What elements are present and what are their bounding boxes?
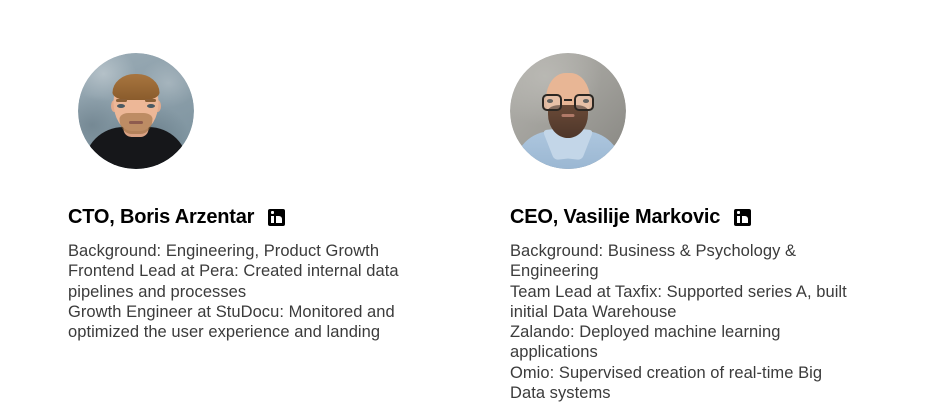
photo-eye-left xyxy=(117,104,125,108)
linkedin-icon-dot xyxy=(271,211,274,214)
linkedin-icon[interactable] xyxy=(268,209,285,226)
photo-mouth xyxy=(129,121,143,124)
bio-line: Team Lead at Taxfix: Supported series A,… xyxy=(510,282,850,323)
profile-bio: Background: Business & Psychology & Engi… xyxy=(510,241,850,403)
avatar xyxy=(78,53,194,169)
profile-card-cto: CTO, Boris Arzentar Background: Engineer… xyxy=(68,53,408,342)
linkedin-icon-dot xyxy=(737,211,740,214)
avatar-photo-boris-arzentar xyxy=(78,53,194,169)
page-title: CTO, Boris Arzentar xyxy=(68,205,254,229)
linkedin-icon-i-stem xyxy=(737,216,740,223)
bio-line: Background: Engineering, Product Growth xyxy=(68,241,404,261)
linkedin-icon[interactable] xyxy=(734,209,751,226)
page-title: CEO, Vasilije Markovic xyxy=(510,205,720,229)
bio-line: Frontend Lead at Pera: Created internal … xyxy=(68,261,404,302)
linkedin-icon-i-stem xyxy=(271,216,274,223)
photo-mouth xyxy=(562,114,575,117)
photo-eye-right xyxy=(147,104,155,108)
photo-eyeglass-left xyxy=(542,94,562,111)
bio-line: Growth Engineer at StuDocu: Monitored an… xyxy=(68,302,404,343)
photo-eyeglass-right xyxy=(574,94,594,111)
profile-bio: Background: Engineering, Product Growth … xyxy=(68,241,404,342)
team-profiles-grid: CTO, Boris Arzentar Background: Engineer… xyxy=(0,0,948,412)
bio-line: Omio: Supervised creation of real-time B… xyxy=(510,363,850,404)
avatar-photo-vasilije-markovic xyxy=(510,53,626,169)
photo-eyebrow-left xyxy=(116,99,127,102)
avatar xyxy=(510,53,626,169)
photo-beard xyxy=(120,113,153,134)
profile-name-row: CEO, Vasilije Markovic xyxy=(510,205,850,229)
linkedin-icon-n-arc xyxy=(745,216,749,223)
bio-line: Background: Business & Psychology & Engi… xyxy=(510,241,850,282)
profile-name-row: CTO, Boris Arzentar xyxy=(68,205,408,229)
photo-eyebrow-right xyxy=(145,99,156,102)
linkedin-icon-n-arc xyxy=(279,216,283,223)
profile-card-ceo: CEO, Vasilije Markovic Background: Busin… xyxy=(510,53,850,403)
photo-eyeglass-bridge xyxy=(564,99,572,101)
bio-line: Zalando: Deployed machine learning appli… xyxy=(510,322,850,363)
